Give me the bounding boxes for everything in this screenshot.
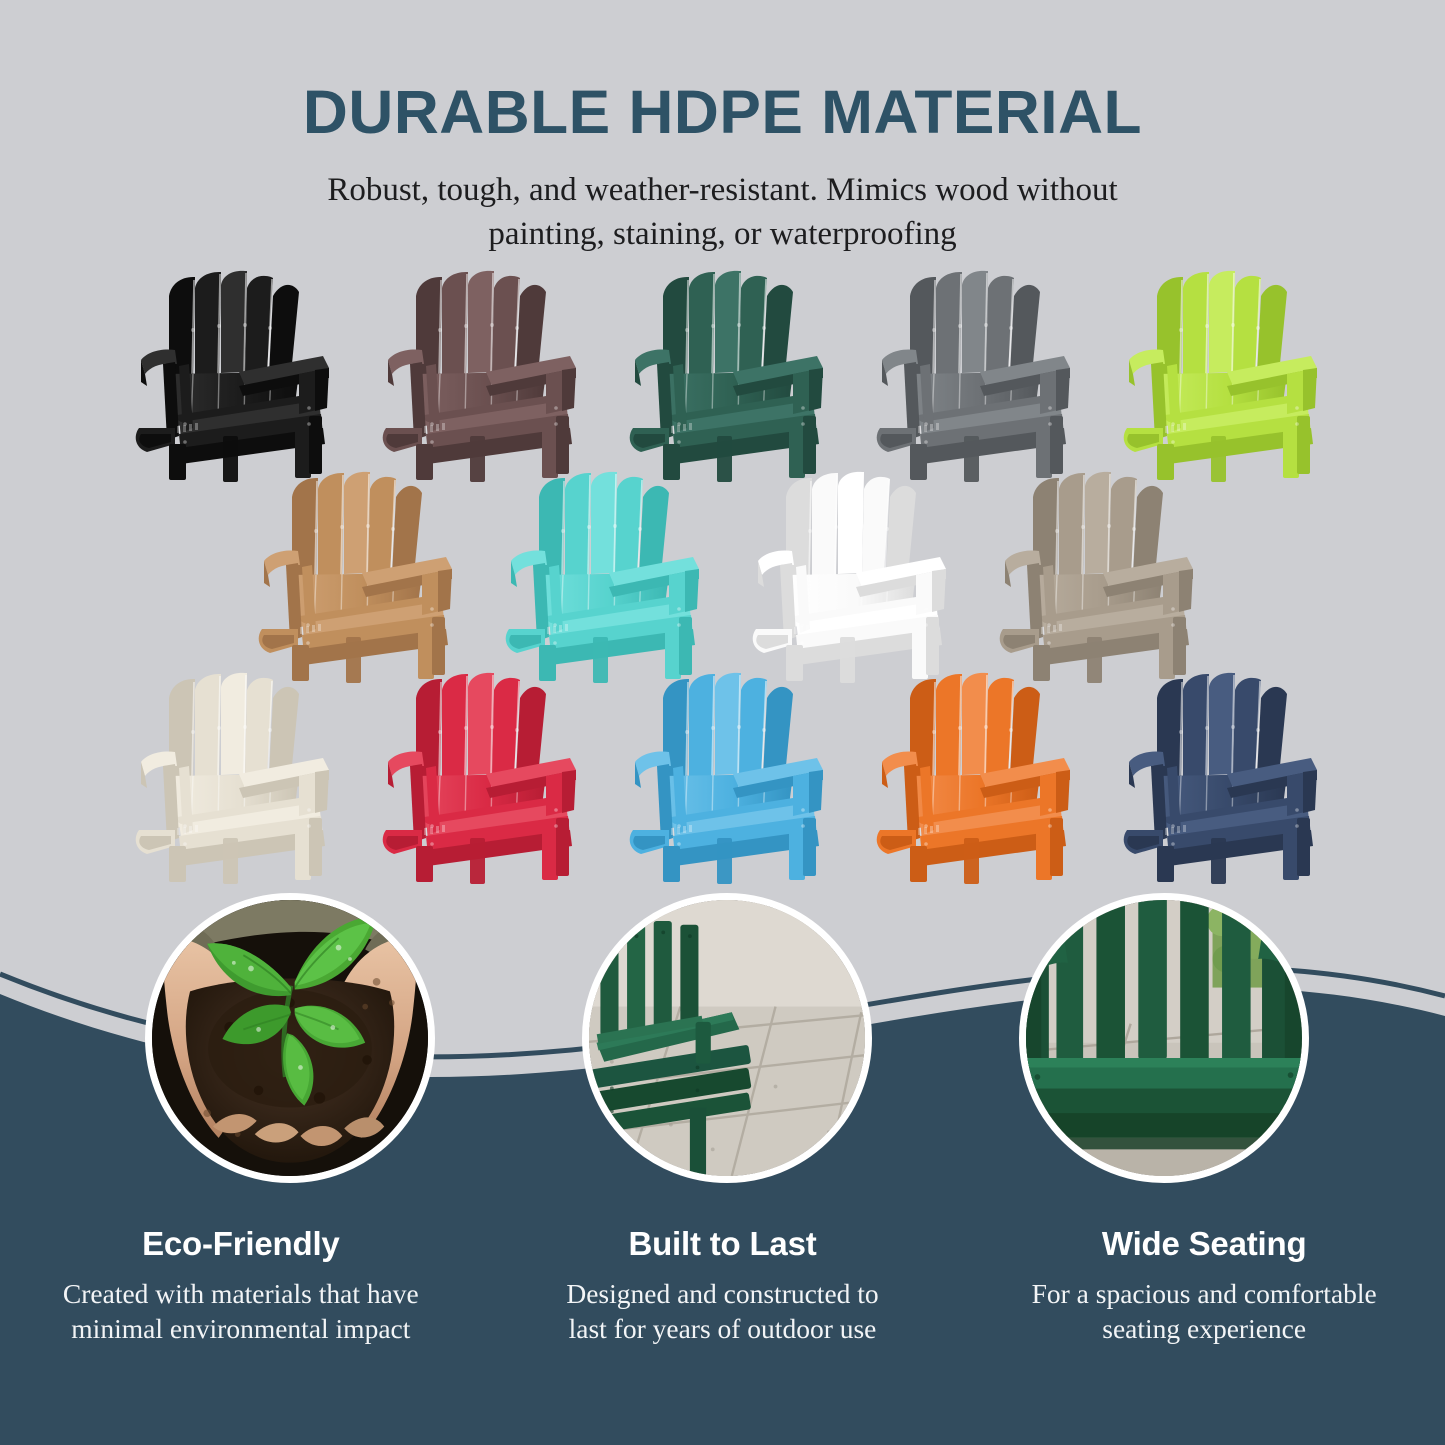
feature-desc-line-1: Designed and constructed to <box>566 1278 878 1309</box>
feature-2: Built to LastDesigned and constructed to… <box>482 1225 964 1346</box>
feature-desc-line-2: seating experience <box>1102 1313 1306 1344</box>
subtitle-line-2: painting, staining, or waterproofing <box>488 216 956 252</box>
adirondack-chair-light-blue <box>617 670 829 885</box>
feature-description: Designed and constructed tolast for year… <box>508 1263 938 1346</box>
feature-3: Wide SeatingFor a spacious and comfortab… <box>963 1225 1445 1346</box>
chair-swatch-navy[interactable] <box>1111 670 1323 885</box>
feature-description: For a spacious and comfortableseating ex… <box>989 1263 1419 1346</box>
chair-swatch-white[interactable] <box>740 469 952 684</box>
feature-desc-line-2: last for years of outdoor use <box>569 1313 877 1344</box>
chair-swatch-gray[interactable] <box>864 268 1076 483</box>
infographic-canvas: DURABLE HDPE MATERIAL Robust, tough, and… <box>0 0 1445 1445</box>
chair-swatch-black[interactable] <box>123 268 335 483</box>
subtitle-line-1: Robust, tough, and weather-resistant. Mi… <box>327 172 1117 208</box>
chair-swatch-red[interactable] <box>370 670 582 885</box>
chair-swatch-taupe[interactable] <box>987 469 1199 684</box>
feature-title: Wide Seating <box>989 1225 1419 1263</box>
adirondack-chair-red <box>370 670 582 885</box>
feature-desc-line-2: minimal environmental impact <box>71 1313 410 1344</box>
feature-captions: Eco-FriendlyCreated with materials that … <box>0 1225 1445 1346</box>
chair-color-grid <box>0 268 1445 885</box>
feature-title: Built to Last <box>508 1225 938 1263</box>
chair-swatch-dark-green[interactable] <box>617 268 829 483</box>
adirondack-chair-navy <box>1111 670 1323 885</box>
chair-row-2 <box>0 469 1445 684</box>
chair-swatch-orange[interactable] <box>864 670 1076 885</box>
adirondack-chair-taupe <box>987 469 1199 684</box>
feature-desc-line-1: For a spacious and comfortable <box>1032 1278 1377 1309</box>
page-title: DURABLE HDPE MATERIAL <box>0 0 1445 143</box>
adirondack-chair-gray <box>864 268 1076 483</box>
wave-divider <box>0 930 1445 1445</box>
adirondack-chair-black <box>123 268 335 483</box>
chair-swatch-ivory[interactable] <box>123 670 335 885</box>
adirondack-chair-white <box>740 469 952 684</box>
chair-row-3 <box>0 670 1445 885</box>
adirondack-chair-turquoise <box>493 469 705 684</box>
adirondack-chair-lime-green <box>1111 268 1323 483</box>
feature-description: Created with materials that haveminimal … <box>26 1263 456 1346</box>
header: DURABLE HDPE MATERIAL Robust, tough, and… <box>0 0 1445 257</box>
chair-swatch-brown[interactable] <box>370 268 582 483</box>
chair-swatch-lime-green[interactable] <box>1111 268 1323 483</box>
adirondack-chair-dark-green <box>617 268 829 483</box>
page-subtitle: Robust, tough, and weather-resistant. Mi… <box>0 143 1445 257</box>
chair-swatch-tan[interactable] <box>246 469 458 684</box>
chair-swatch-light-blue[interactable] <box>617 670 829 885</box>
feature-1: Eco-FriendlyCreated with materials that … <box>0 1225 482 1346</box>
chair-swatch-turquoise[interactable] <box>493 469 705 684</box>
feature-desc-line-1: Created with materials that have <box>63 1278 419 1309</box>
adirondack-chair-orange <box>864 670 1076 885</box>
adirondack-chair-tan <box>246 469 458 684</box>
chair-row-1 <box>0 268 1445 483</box>
adirondack-chair-ivory <box>123 670 335 885</box>
adirondack-chair-brown <box>370 268 582 483</box>
feature-title: Eco-Friendly <box>26 1225 456 1263</box>
